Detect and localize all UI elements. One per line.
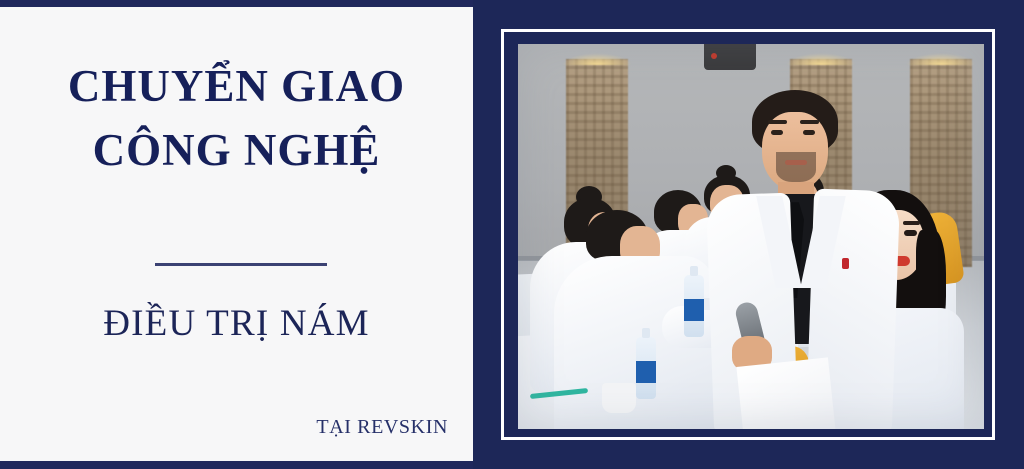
photo-frame-border (501, 29, 995, 440)
ceiling-speaker-icon (704, 44, 756, 70)
eyebrow (768, 120, 787, 124)
page-title: CHUYỂN GIAO CÔNG NGHỆ (0, 55, 473, 183)
event-photo (518, 44, 984, 429)
paper-sheet (736, 358, 835, 429)
water-bottle (636, 337, 656, 399)
mouth (785, 160, 807, 165)
subtitle: ĐIỀU TRỊ NÁM (0, 302, 473, 345)
water-bottle (684, 275, 704, 337)
beard (776, 152, 816, 182)
cup (602, 383, 636, 413)
headline-line-1: CHUYỂN GIAO (68, 61, 405, 111)
eye (771, 130, 783, 135)
headline-line-2: CÔNG NGHỆ (0, 119, 473, 183)
lapel-pin (842, 258, 849, 269)
photo-frame-inner (518, 44, 984, 429)
eye (803, 130, 815, 135)
left-text-panel: CHUYỂN GIAO CÔNG NGHỆ ĐIỀU TRỊ NÁM TẠI R… (0, 0, 473, 469)
right-photo-panel (473, 0, 1024, 469)
divider-rule (155, 263, 327, 266)
bottle-label (684, 299, 704, 321)
bottle-label (636, 361, 656, 383)
promo-banner: CHUYỂN GIAO CÔNG NGHỆ ĐIỀU TRỊ NÁM TẠI R… (0, 0, 1024, 469)
eye (904, 230, 917, 236)
left-panel-content: CHUYỂN GIAO CÔNG NGHỆ ĐIỀU TRỊ NÁM TẠI R… (0, 7, 473, 461)
presenter (706, 90, 896, 429)
speaker-led-icon (711, 53, 717, 59)
brand-tagline: TẠI REVSKIN (316, 416, 448, 439)
eyebrow (800, 120, 819, 124)
eyebrow (903, 221, 920, 225)
